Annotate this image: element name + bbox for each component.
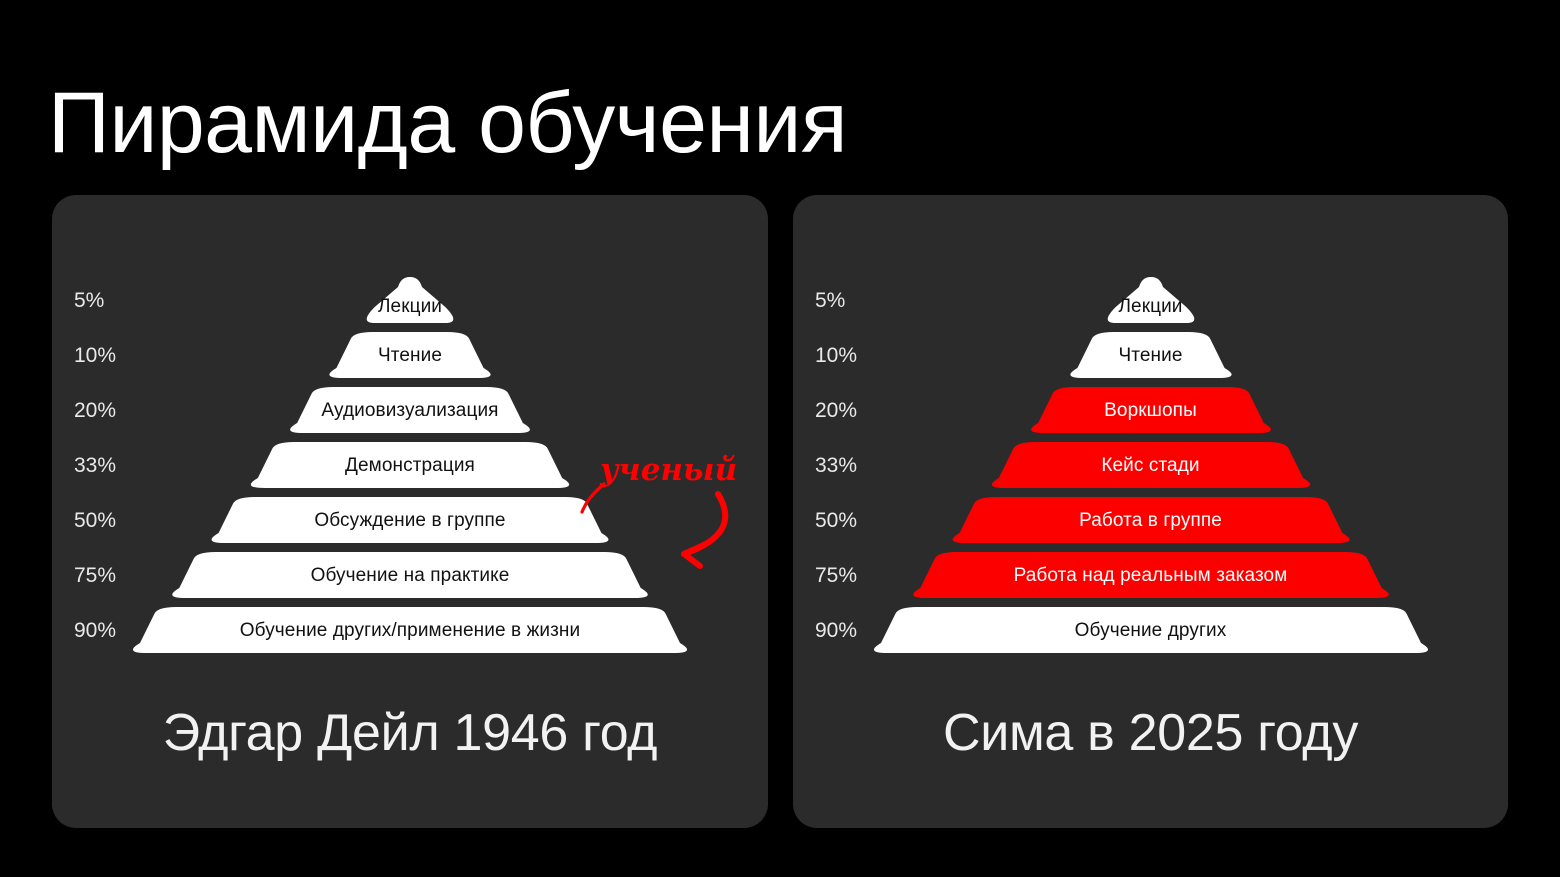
- pyramid-layer-label: Воркшопы: [1104, 401, 1197, 420]
- pyramid-layer-label: Лекции: [378, 297, 442, 316]
- pyramid-layer-label: Чтение: [1118, 346, 1182, 365]
- pyramid-layer[interactable]: Чтение: [317, 330, 502, 380]
- pyramid-layer[interactable]: Обсуждение в группе: [200, 495, 621, 545]
- pyramid-layer[interactable]: Аудиовизуализация: [278, 385, 542, 435]
- pyramid-layer-label: Обучение других: [1075, 621, 1227, 640]
- pyramid-right: Лекции Чтение Воркшопы Кейс стади Работа…: [793, 257, 1508, 672]
- pyramid-card-dale: 5%10%20%33%50%75%90% Лекции Чтение Аудио…: [52, 195, 768, 828]
- pyramid-layer-label: Обсуждение в группе: [314, 511, 505, 530]
- pyramid-layer[interactable]: Работа в группе: [940, 495, 1361, 545]
- card-caption-dale: Эдгар Дейл 1946 год: [52, 703, 768, 763]
- pyramid-layer-label: Демонстрация: [345, 456, 475, 475]
- pyramid-layer-label: Обучение на практике: [311, 566, 510, 585]
- pyramid-area-right: 5%10%20%33%50%75%90% Лекции Чтение Воркш…: [793, 257, 1508, 672]
- pyramid-layer[interactable]: Лекции: [1097, 275, 1204, 325]
- pyramid-layer-label: Кейс стади: [1101, 456, 1199, 475]
- pyramid-layer[interactable]: Работа над реальным заказом: [901, 550, 1400, 600]
- pyramid-layer-label: Лекции: [1118, 297, 1182, 316]
- pyramid-layer[interactable]: Обучение других/применение в жизни: [121, 605, 699, 655]
- pyramid-layer[interactable]: Демонстрация: [239, 440, 581, 490]
- pyramid-card-sima: 5%10%20%33%50%75%90% Лекции Чтение Воркш…: [793, 195, 1508, 828]
- pyramid-area-left: 5%10%20%33%50%75%90% Лекции Чтение Аудио…: [52, 257, 768, 672]
- pyramid-layer[interactable]: Воркшопы: [1019, 385, 1283, 435]
- pyramid-layer-label: Обучение других/применение в жизни: [240, 621, 580, 640]
- pyramid-left: Лекции Чтение Аудиовизуализация Демонстр…: [52, 257, 768, 672]
- pyramid-layer[interactable]: Лекции: [357, 275, 464, 325]
- pyramid-layer[interactable]: Обучение на практике: [160, 550, 659, 600]
- pyramid-layer[interactable]: Чтение: [1058, 330, 1243, 380]
- card-caption-sima: Сима в 2025 году: [793, 703, 1508, 763]
- pyramid-layer[interactable]: Обучение других: [862, 605, 1440, 655]
- pyramid-layer-label: Аудиовизуализация: [321, 401, 498, 420]
- pyramid-layer-label: Работа в группе: [1079, 511, 1222, 530]
- pyramid-layer-label: Чтение: [378, 346, 442, 365]
- pyramid-cards-container: 5%10%20%33%50%75%90% Лекции Чтение Аудио…: [0, 195, 1560, 829]
- page-title: Пирамида обучения: [48, 80, 847, 166]
- pyramid-layer-label: Работа над реальным заказом: [1014, 566, 1288, 585]
- pyramid-layer[interactable]: Кейс стади: [979, 440, 1321, 490]
